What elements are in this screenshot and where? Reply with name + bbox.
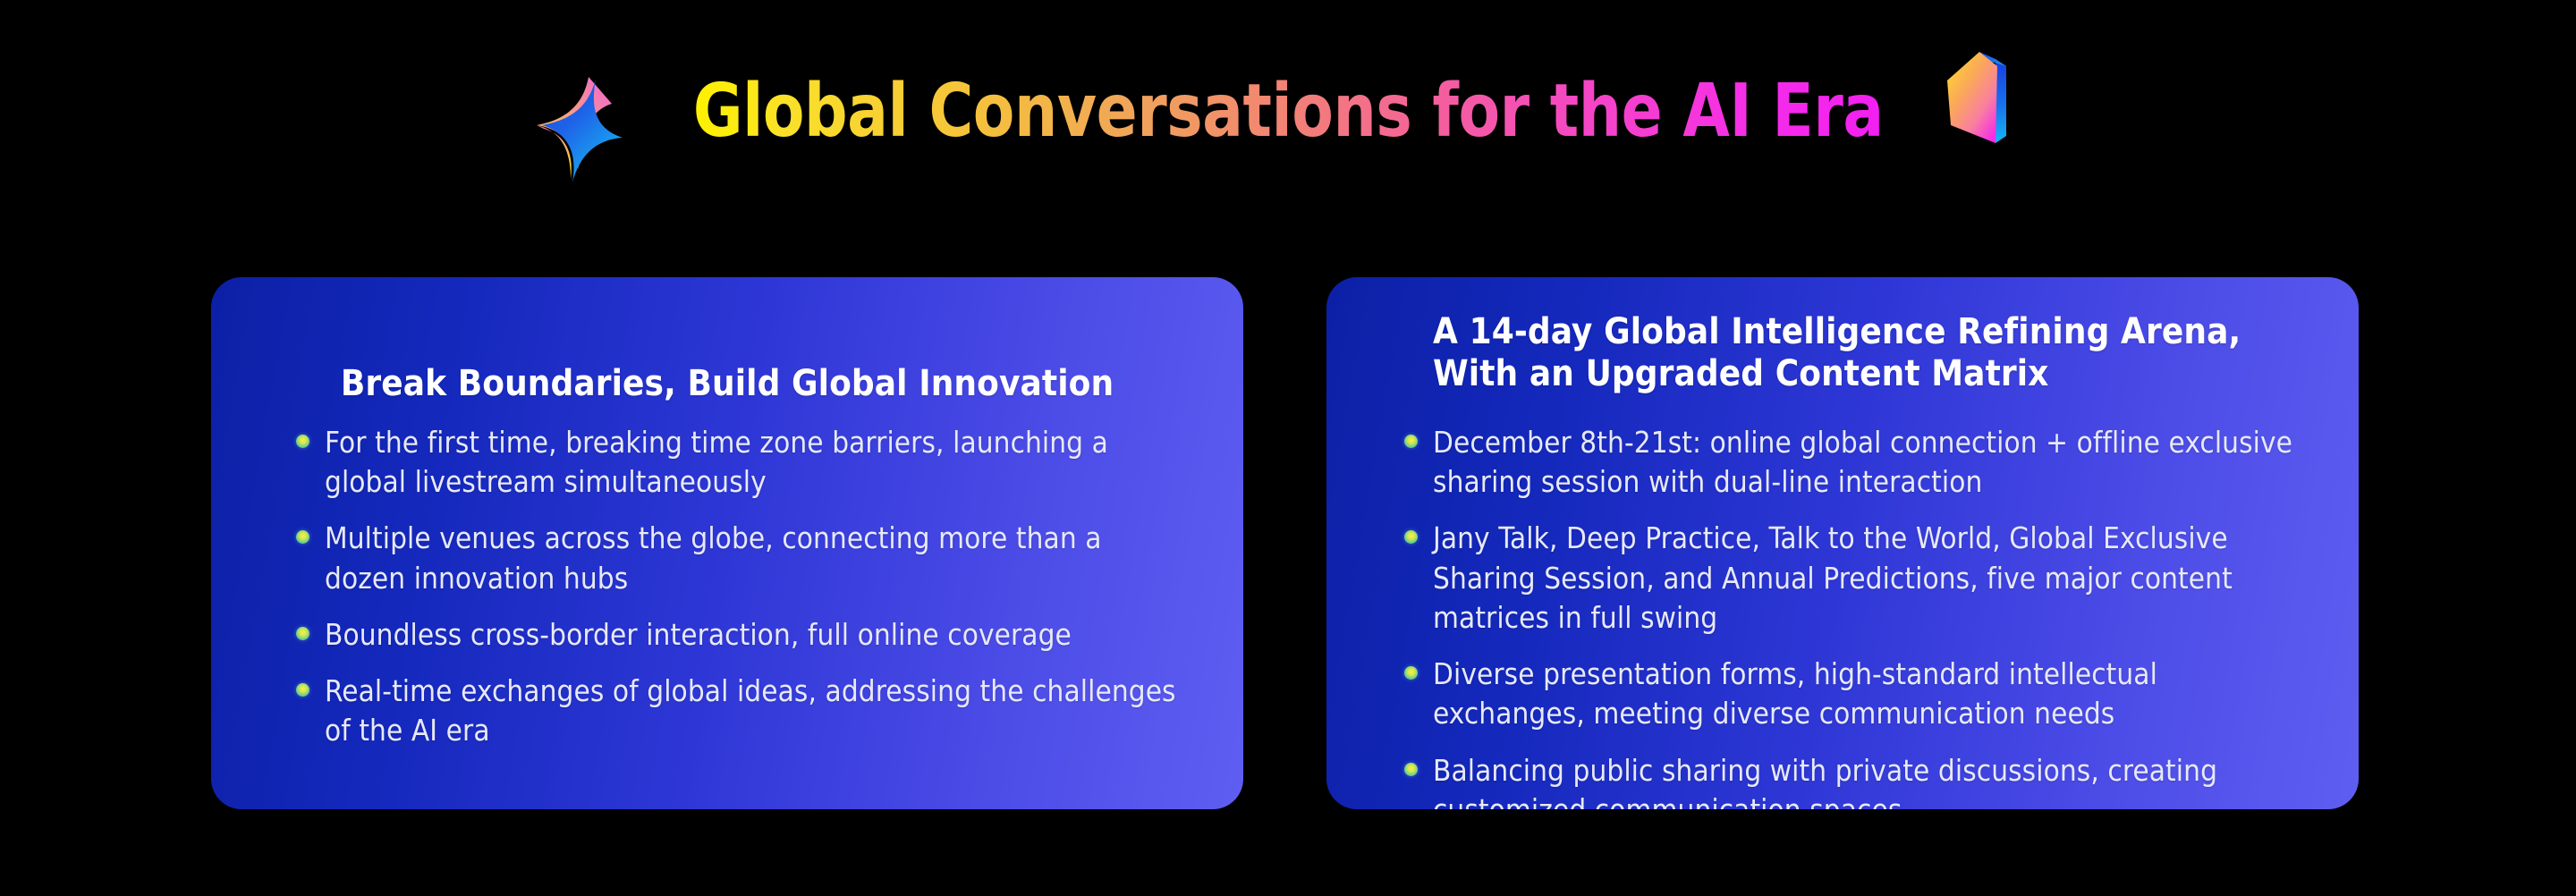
list-item-text: Balancing public sharing with private di… (1433, 753, 2217, 809)
list-item: Balancing public sharing with private di… (1404, 751, 2316, 809)
bullet-dot-icon (296, 683, 309, 697)
list-item-text: Boundless cross-border interaction, full… (325, 617, 1072, 652)
list-item-text: Jany Talk, Deep Practice, Talk to the Wo… (1433, 520, 2233, 634)
list-item: Real-time exchanges of global ideas, add… (296, 672, 1181, 750)
list-item: Multiple venues across the globe, connec… (296, 519, 1181, 597)
bullet-dot-icon (1404, 666, 1418, 680)
slide-canvas: Global Conversations for the AI Era (0, 0, 2576, 896)
list-item: Boundless cross-border interaction, full… (296, 615, 1181, 655)
bullet-dot-icon (296, 435, 309, 448)
list-item: December 8th-21st: online global connect… (1404, 423, 2316, 502)
list-item: Jany Talk, Deep Practice, Talk to the Wo… (1404, 519, 2316, 638)
header-banner: Global Conversations for the AI Era (0, 36, 2576, 188)
bullet-dot-icon (296, 627, 309, 640)
list-item-text: Real-time exchanges of global ideas, add… (325, 673, 1176, 748)
bullet-dot-icon (1404, 435, 1418, 448)
list-item: Diverse presentation forms, high-standar… (1404, 655, 2316, 733)
bullet-list: December 8th-21st: online global connect… (1326, 423, 2359, 809)
bullet-dot-icon (296, 530, 309, 544)
list-item-text: Multiple venues across the globe, connec… (325, 520, 1102, 595)
list-item-text: For the first time, breaking time zone b… (325, 425, 1108, 499)
bullet-list: For the first time, breaking time zone b… (211, 423, 1243, 751)
list-item-text: Diverse presentation forms, high-standar… (1433, 656, 2157, 731)
list-item-text: December 8th-21st: online global connect… (1433, 425, 2292, 499)
card-heading: Break Boundaries, Build Global Innovatio… (211, 363, 1243, 405)
card-content: A 14-day Global Intelligence Refining Ar… (1326, 277, 2359, 809)
list-item: For the first time, breaking time zone b… (296, 423, 1181, 502)
card-heading: A 14-day Global Intelligence Refining Ar… (1433, 311, 2316, 395)
card-break-boundaries[interactable]: Break Boundaries, Build Global Innovatio… (211, 277, 1243, 809)
card-intelligence-arena[interactable]: A 14-day Global Intelligence Refining Ar… (1326, 277, 2359, 809)
page-title: Global Conversations for the AI Era (693, 75, 1884, 148)
card-content: Break Boundaries, Build Global Innovatio… (211, 277, 1243, 809)
bullet-dot-icon (1404, 763, 1418, 776)
bullet-dot-icon (1404, 530, 1418, 544)
